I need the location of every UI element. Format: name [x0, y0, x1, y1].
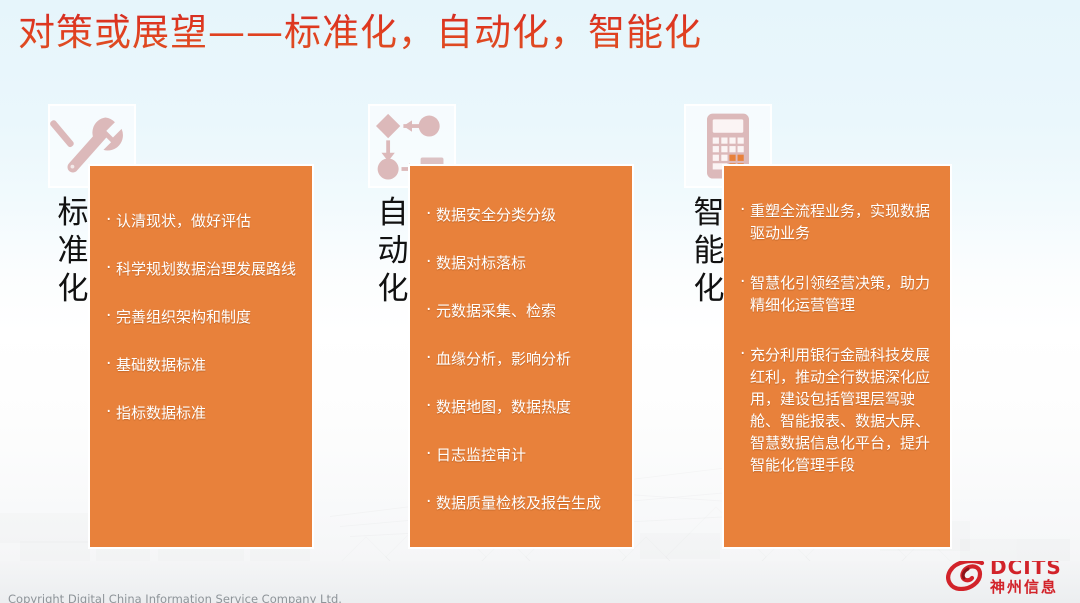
label-char: 能	[688, 232, 730, 270]
list-item: 指标数据标准	[104, 402, 304, 424]
label-char: 自	[372, 194, 414, 232]
logo-chinese-name: 神州信息	[990, 576, 1058, 597]
list-item: 数据地图，数据热度	[424, 396, 624, 418]
list-item: 重塑全流程业务，实现数据驱动业务	[738, 200, 942, 244]
list-item: 数据对标落标	[424, 252, 624, 274]
page-title: 对策或展望——标准化，自动化，智能化	[18, 6, 702, 60]
list-item: 数据质量检核及报告生成	[424, 492, 624, 514]
list-item: 充分利用银行金融科技发展红利，推动全行数据深化应用，建设包括管理层驾驶舱、智能报…	[738, 344, 942, 476]
copyright-text: Copyright Digital China Information Serv…	[8, 592, 342, 603]
label-char: 化	[688, 270, 730, 308]
label-char: 动	[372, 232, 414, 270]
column-label-automation: 自 动 化	[372, 194, 414, 308]
company-logo: DCITS 神州信息	[946, 561, 1070, 597]
list-item: 认清现状，做好评估	[104, 210, 304, 232]
list-item: 基础数据标准	[104, 354, 304, 376]
list-item: 日志监控审计	[424, 444, 624, 466]
content-box-intelligence: 重塑全流程业务，实现数据驱动业务 智慧化引领经营决策，助力精细化运营管理 充分利…	[722, 164, 952, 549]
label-char: 标	[52, 194, 94, 232]
label-char: 化	[372, 270, 414, 308]
content-box-standardization: 认清现状，做好评估 科学规划数据治理发展路线 完善组织架构和制度 基础数据标准 …	[88, 164, 314, 549]
bullet-list-intelligence: 重塑全流程业务，实现数据驱动业务 智慧化引领经营决策，助力精细化运营管理 充分利…	[738, 200, 942, 476]
list-item: 数据安全分类分级	[424, 204, 624, 226]
footer-bar: Copyright Digital China Information Serv…	[0, 561, 1080, 603]
column-label-intelligence: 智 能 化	[688, 194, 730, 308]
content-box-automation: 数据安全分类分级 数据对标落标 元数据采集、检索 血缘分析，影响分析 数据地图，…	[408, 164, 634, 549]
column-label-standardization: 标 准 化	[52, 194, 94, 308]
bullet-list-standardization: 认清现状，做好评估 科学规划数据治理发展路线 完善组织架构和制度 基础数据标准 …	[104, 210, 304, 424]
list-item: 元数据采集、检索	[424, 300, 624, 322]
bullet-list-automation: 数据安全分类分级 数据对标落标 元数据采集、检索 血缘分析，影响分析 数据地图，…	[424, 204, 624, 514]
dcits-swoosh-icon	[946, 561, 986, 591]
list-item: 智慧化引领经营决策，助力精细化运营管理	[738, 272, 942, 316]
list-item: 科学规划数据治理发展路线	[104, 258, 304, 280]
list-item: 完善组织架构和制度	[104, 306, 304, 328]
label-char: 准	[52, 232, 94, 270]
label-char: 化	[52, 270, 94, 308]
label-char: 智	[688, 194, 730, 232]
list-item: 血缘分析，影响分析	[424, 348, 624, 370]
slide-canvas: 对策或展望——标准化，自动化，智能化 标 准 化 认清现状，做好评估 科学规划数…	[0, 0, 1080, 603]
